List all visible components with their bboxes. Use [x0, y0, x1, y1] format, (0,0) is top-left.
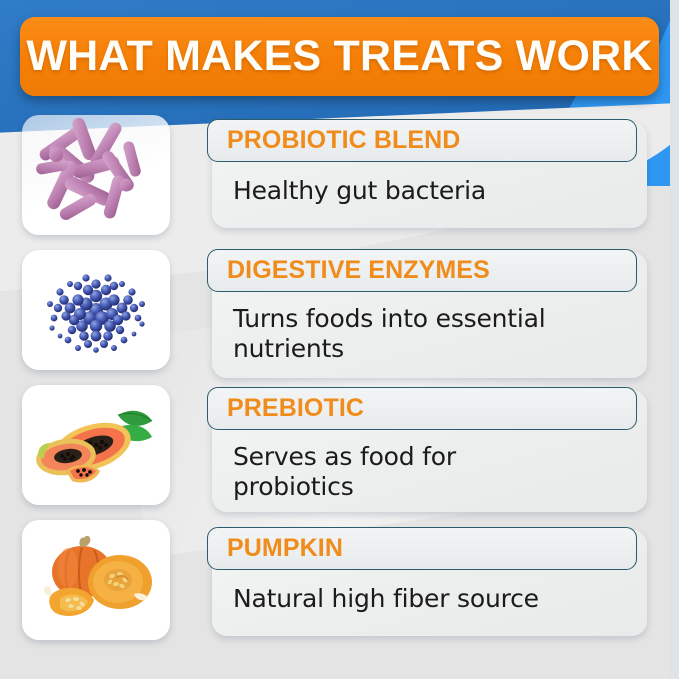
heading-pill-digestive-enzymes: DIGESTIVE ENZYMES: [207, 249, 637, 292]
icon-tile-digestive-enzymes: [22, 250, 170, 370]
body-text-digestive-enzymes: Turns foods into essential nutrients: [233, 304, 643, 364]
pumpkin-half: [88, 555, 152, 609]
icon-tile-probiotic: [22, 115, 170, 235]
infographic-poster: WHAT MAKES TREATS WORK: [0, 0, 679, 679]
text-card-prebiotic: PREBIOTIC Serves as food for probiotics: [212, 390, 647, 512]
papaya-wedge: [66, 465, 100, 483]
icon-tile-prebiotic: [22, 385, 170, 505]
body-text-prebiotic: Serves as food for probiotics: [233, 442, 533, 502]
icon-tile-pumpkin: [22, 520, 170, 640]
probiotic-bacteria-icon: [22, 115, 170, 235]
background-right-strip: [670, 0, 679, 679]
heading-pill-prebiotic: PREBIOTIC: [207, 387, 637, 430]
heading-label-probiotic: PROBIOTIC BLEND: [227, 126, 460, 155]
heading-label-prebiotic: PREBIOTIC: [227, 394, 364, 423]
heading-pill-pumpkin: PUMPKIN: [207, 527, 637, 570]
page-title: WHAT MAKES TREATS WORK: [26, 32, 652, 81]
digestive-enzyme-molecule-icon: [22, 250, 170, 370]
body-text-pumpkin: Natural high fiber source: [233, 584, 643, 614]
text-card-probiotic: PROBIOTIC BLEND Healthy gut bacteria: [212, 122, 647, 228]
text-card-pumpkin: PUMPKIN Natural high fiber source: [212, 530, 647, 636]
title-banner: WHAT MAKES TREATS WORK: [20, 17, 659, 96]
pumpkin-icon: [22, 520, 170, 640]
papaya-fruit-icon: [22, 385, 170, 505]
text-card-digestive-enzymes: DIGESTIVE ENZYMES Turns foods into essen…: [212, 252, 647, 378]
heading-label-pumpkin: PUMPKIN: [227, 534, 343, 563]
heading-pill-probiotic: PROBIOTIC BLEND: [207, 119, 637, 162]
heading-label-digestive-enzymes: DIGESTIVE ENZYMES: [227, 256, 490, 285]
body-text-probiotic: Healthy gut bacteria: [233, 176, 633, 206]
